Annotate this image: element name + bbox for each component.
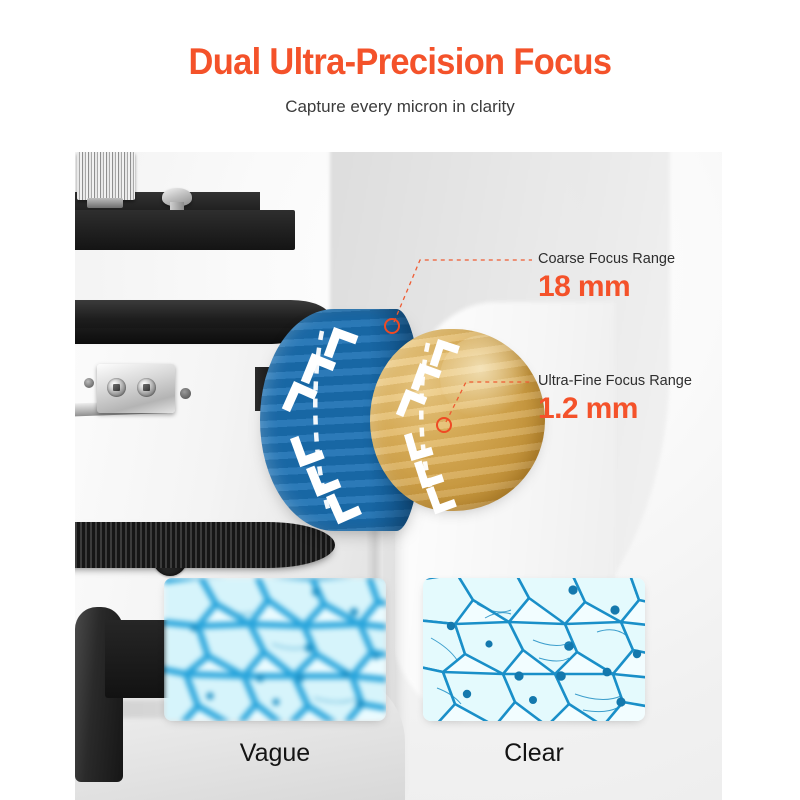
onion-cells-sharp	[423, 578, 645, 721]
caption-vague: Vague	[164, 738, 386, 768]
specimen-inset-clear-wrapper	[423, 578, 645, 721]
specimen-image-vague	[164, 578, 386, 721]
callout-coarse-value: 18 mm	[538, 268, 675, 304]
specimen-image-clear	[423, 578, 645, 721]
callout-fine-label: Ultra-Fine Focus Range	[538, 372, 692, 390]
stage-knurled-knob-base	[87, 198, 123, 208]
page-title: Dual Ultra-Precision Focus	[28, 0, 772, 84]
stage-knurled-knob	[77, 152, 135, 200]
callout-coarse-label: Coarse Focus Range	[538, 250, 675, 268]
callout-coarse: Coarse Focus Range 18 mm	[538, 250, 675, 304]
focus-knob-assembly	[260, 309, 550, 534]
header: Dual Ultra-Precision Focus Capture every…	[0, 0, 800, 118]
slide-clip-bolt	[137, 378, 156, 397]
stage-alignment-dot	[84, 378, 94, 388]
onion-cells-blurred	[164, 578, 386, 721]
specimen-inset-vague-wrapper	[164, 578, 386, 721]
callout-fine: Ultra-Fine Focus Range 1.2 mm	[538, 372, 692, 426]
page-subtitle: Capture every micron in clarity	[0, 84, 800, 118]
stage-top-bar	[75, 210, 295, 250]
fine-focus-knob[interactable]	[370, 329, 545, 511]
caption-clear: Clear	[423, 738, 645, 768]
body-pin-screw	[180, 388, 191, 399]
fine-knob-highlight	[440, 335, 530, 419]
callout-fine-value: 1.2 mm	[538, 390, 692, 426]
slide-clip-bolt	[107, 378, 126, 397]
